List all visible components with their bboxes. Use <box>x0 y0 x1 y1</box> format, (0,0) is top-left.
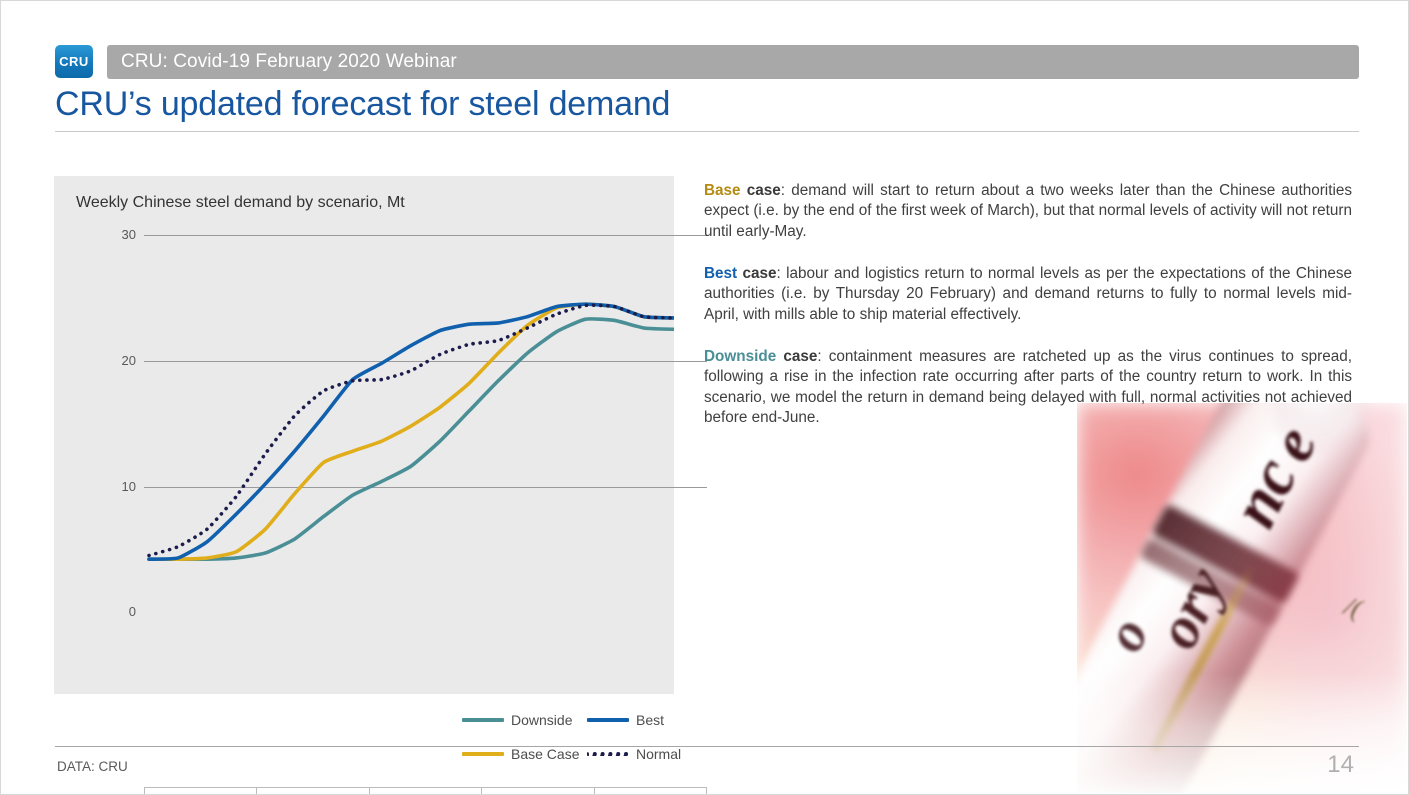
scenario-keyword: Base <box>704 182 741 199</box>
legend-swatch-base-case <box>462 752 504 756</box>
chart-panel: Weekly Chinese steel demand by scenario,… <box>54 176 674 694</box>
title-divider <box>55 131 1359 132</box>
scenario-case-word: case <box>737 265 776 282</box>
header-ribbon: CRU: Covid-19 February 2020 Webinar <box>107 45 1359 79</box>
x-axis-month-april: 1234April <box>370 788 482 795</box>
legend-item-base-case: Base Case <box>462 746 587 762</box>
scenario-paragraph-best: Best case: labour and logistics return t… <box>704 264 1352 325</box>
legend-swatch-downside <box>462 718 504 722</box>
scenario-body-text: : labour and logistics return to normal … <box>704 265 1352 323</box>
x-axis-week-row: 1234 <box>482 788 593 795</box>
legend-label-normal: Normal <box>636 746 681 762</box>
x-axis-month-march: 1234March <box>257 788 369 795</box>
x-axis-month-may: 1234May <box>482 788 594 795</box>
legend-item-best: Best <box>587 712 712 728</box>
legend-item-downside: Downside <box>462 712 587 728</box>
slide-canvas: e nc ory o /( CRU CRU: Covid-19 February… <box>0 0 1409 795</box>
photo-background-wash <box>1077 403 1407 793</box>
scenario-case-word: case <box>741 182 781 199</box>
page-title: CRU’s updated forecast for steel demand <box>55 85 670 124</box>
legend-label-base-case: Base Case <box>511 746 579 762</box>
footer-divider <box>55 746 1359 747</box>
x-axis-week-row: 1234 <box>257 788 368 795</box>
legend-swatch-normal <box>587 752 629 756</box>
x-axis-week-row: 1234 <box>145 788 256 795</box>
legend-label-downside: Downside <box>511 712 572 728</box>
ribbon-title: CRU: Covid-19 February 2020 Webinar <box>121 51 457 73</box>
photo-vial-bands <box>1077 403 1379 793</box>
x-axis-week-row: 1234 <box>370 788 481 795</box>
cru-logo: CRU <box>55 45 93 78</box>
photo-bottom-fade <box>1077 673 1407 793</box>
scenario-body-text: : demand will start to return about a tw… <box>704 182 1352 240</box>
photo-gold-streak <box>1150 563 1257 753</box>
chart-line-best <box>149 304 674 559</box>
chart-plot-area <box>54 176 674 694</box>
chart-legend: Downside Best Base Case Normal <box>462 703 712 773</box>
decorative-vial-photo: e nc ory o /( <box>1077 403 1407 793</box>
footer-data-note: DATA: CRU <box>57 759 128 774</box>
scenario-keyword: Downside <box>704 348 776 365</box>
scenario-keyword: Best <box>704 265 737 282</box>
cru-logo-text: CRU <box>59 54 89 69</box>
x-axis-week-row: 1234 <box>595 788 706 795</box>
page-number: 14 <box>1327 751 1354 779</box>
photo-label-glyphs: e nc ory o <box>1077 403 1385 793</box>
scenario-paragraph-base: Base case: demand will start to return a… <box>704 181 1352 242</box>
photo-vial-body <box>1077 403 1379 793</box>
scenario-paragraph-downside: Downside case: containment measures are … <box>704 347 1352 428</box>
chart-line-normal <box>149 305 674 555</box>
legend-swatch-best <box>587 718 629 722</box>
legend-label-best: Best <box>636 712 664 728</box>
chart-x-axis: 1234February1234March1234April1234May123… <box>144 787 707 795</box>
scenario-text-column: Base case: demand will start to return a… <box>704 181 1352 428</box>
photo-label-mark: /( <box>1341 591 1365 624</box>
x-axis-month-june: 1234June <box>595 788 706 795</box>
x-axis-month-february: 1234February <box>145 788 257 795</box>
scenario-case-word: case <box>776 348 817 365</box>
legend-item-normal: Normal <box>587 746 712 762</box>
